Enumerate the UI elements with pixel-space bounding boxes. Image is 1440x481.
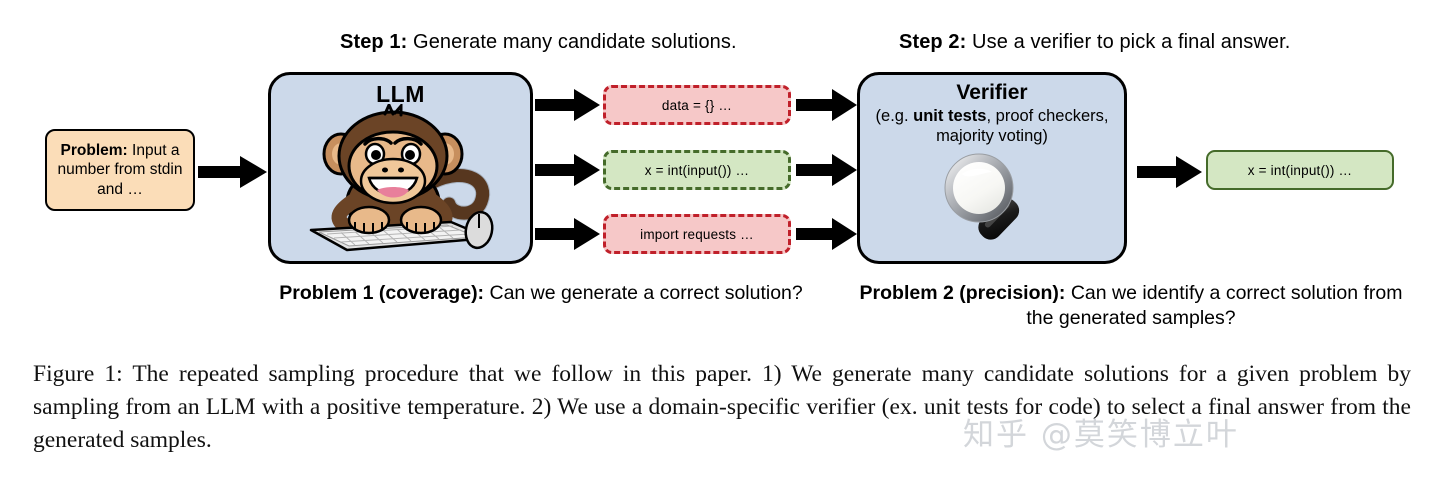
sample-solution-3: import requests …	[603, 214, 791, 254]
watermark-text: 知乎 @莫笑博立叶	[963, 409, 1239, 454]
verifier-subtitle-pre: (e.g.	[876, 107, 914, 125]
problem-1-caption: Problem 1 (coverage): Can we generate a …	[262, 281, 820, 306]
step-1-heading: Step 1: Generate many candidate solution…	[340, 30, 737, 54]
verifier-subtitle-bold: unit tests	[913, 107, 986, 125]
arrow-llm-to-sample-3	[535, 217, 601, 251]
arrow-sample-1-to-verifier	[796, 88, 858, 122]
arrow-sample-3-to-verifier	[796, 217, 858, 251]
arrow-llm-to-sample-2	[535, 153, 601, 187]
step-2-heading: Step 2: Use a verifier to pick a final a…	[899, 30, 1290, 54]
verifier-subtitle: (e.g. unit tests, proof checkers, majori…	[860, 106, 1124, 146]
problem-2-label: Problem 2 (precision):	[860, 282, 1066, 304]
figure-canvas: Step 1: Generate many candidate solution…	[0, 0, 1440, 481]
arrow-sample-2-to-verifier	[796, 153, 858, 187]
arrow-llm-to-sample-1	[535, 88, 601, 122]
problem-1-label: Problem 1 (coverage):	[279, 282, 484, 304]
arrow-problem-to-llm	[198, 155, 268, 189]
llm-box: LLM	[268, 72, 533, 264]
final-answer-box: x = int(input()) …	[1206, 150, 1394, 190]
problem-statement-text: Problem: Input a number from stdin and …	[55, 141, 185, 200]
step-1-label: Step 1:	[340, 31, 407, 53]
sample-solution-3-text: import requests …	[640, 227, 754, 242]
sample-solution-1: data = {} …	[603, 85, 791, 125]
problem-1-text: Can we generate a correct solution?	[484, 282, 803, 304]
problem-statement-box: Problem: Input a number from stdin and …	[45, 129, 195, 211]
step-1-text: Generate many candidate solutions.	[407, 31, 736, 53]
problem-label: Problem:	[61, 142, 128, 159]
monkey-typing-illustration	[293, 104, 508, 254]
verifier-box: Verifier (e.g. unit tests, proof checker…	[857, 72, 1127, 264]
problem-2-caption: Problem 2 (precision): Can we identify a…	[858, 281, 1404, 331]
sample-solution-1-text: data = {} …	[662, 98, 732, 113]
problem-2-text: Can we identify a correct solution from …	[1026, 282, 1402, 329]
sample-solution-2-text: x = int(input()) …	[645, 163, 750, 178]
magnifying-glass-icon	[932, 148, 1052, 243]
verifier-title: Verifier	[956, 81, 1027, 105]
final-answer-text: x = int(input()) …	[1248, 163, 1353, 178]
step-2-label: Step 2:	[899, 31, 966, 53]
arrow-verifier-to-final-answer	[1137, 155, 1203, 189]
sample-solution-2: x = int(input()) …	[603, 150, 791, 190]
step-2-text: Use a verifier to pick a final answer.	[966, 31, 1290, 53]
